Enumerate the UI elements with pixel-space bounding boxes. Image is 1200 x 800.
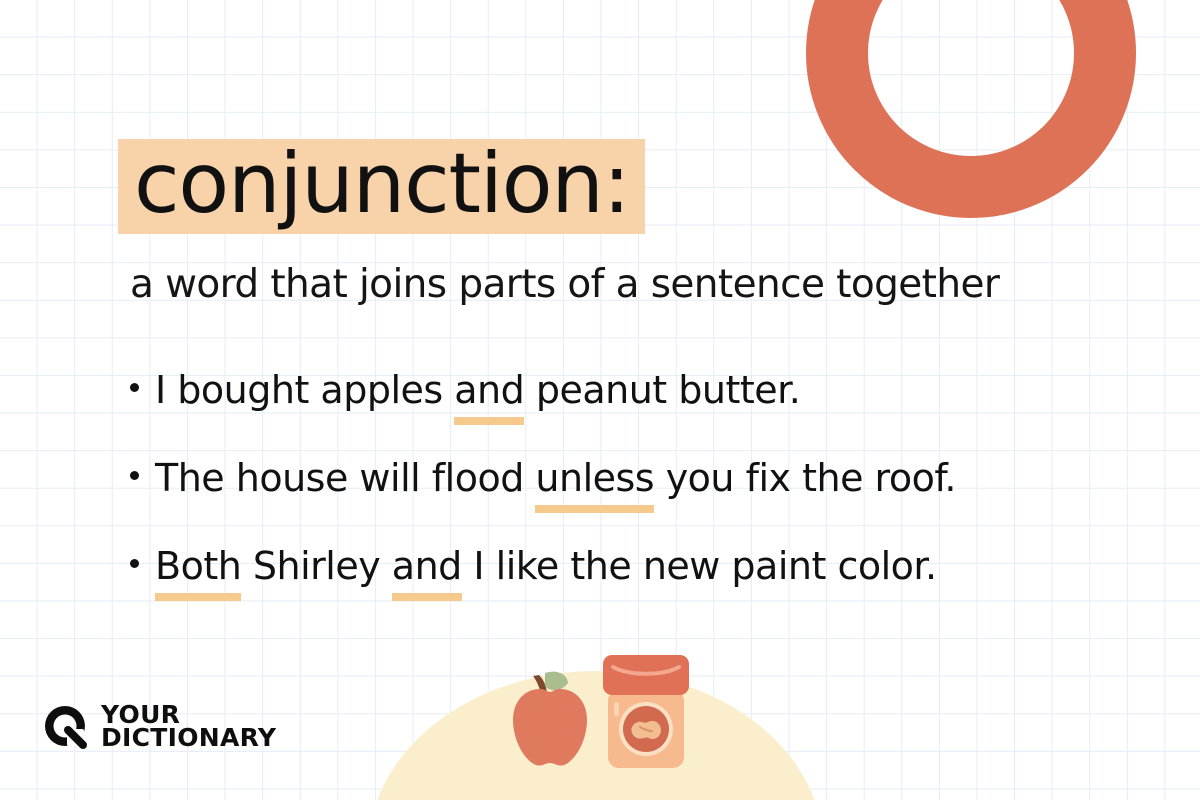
- example-segment: peanut butter.: [524, 368, 800, 412]
- list-item: I bought apples and peanut butter.: [130, 368, 1150, 456]
- infographic-canvas: conjunction: a word that joins parts of …: [0, 0, 1200, 800]
- conjunction-highlight: and: [454, 368, 524, 412]
- definition-text: a word that joins parts of a sentence to…: [130, 262, 999, 307]
- example-segment: I like the new paint color.: [462, 544, 937, 588]
- example-sentence-1: I bought apples and peanut butter.: [155, 368, 800, 412]
- example-sentence-3: Both Shirley and I like the new paint co…: [155, 544, 937, 588]
- bullet-dot-icon: [130, 383, 139, 392]
- conjunction-highlight: and: [392, 544, 462, 588]
- example-sentence-2: The house will flood unless you fix the …: [155, 456, 956, 500]
- example-segment: Shirley: [241, 544, 391, 588]
- bullet-dot-icon: [130, 559, 139, 568]
- example-segment: The house will flood: [155, 456, 535, 500]
- logo-wordmark: YOUR DICTIONARY: [101, 703, 276, 750]
- example-segment: I bought apples: [155, 368, 454, 412]
- conjunction-highlight: Both: [155, 544, 241, 588]
- logo-line-dictionary: DICTIONARY: [101, 726, 276, 749]
- headline-highlight: conjunction:: [118, 139, 645, 234]
- list-item: The house will flood unless you fix the …: [130, 456, 1150, 544]
- conjunction-highlight: unless: [535, 456, 654, 500]
- examples-list: I bought apples and peanut butter. The h…: [130, 368, 1150, 632]
- example-segment: you fix the roof.: [654, 456, 956, 500]
- bullet-dot-icon: [130, 471, 139, 480]
- yourdictionary-logo[interactable]: YOUR DICTIONARY: [42, 703, 276, 750]
- headline-row: conjunction:: [118, 139, 645, 234]
- page-title: conjunction:: [134, 135, 629, 232]
- text-content-block: conjunction: a word that joins parts of …: [0, 0, 1200, 800]
- list-item: Both Shirley and I like the new paint co…: [130, 544, 1150, 632]
- q-ring-icon: [42, 703, 88, 749]
